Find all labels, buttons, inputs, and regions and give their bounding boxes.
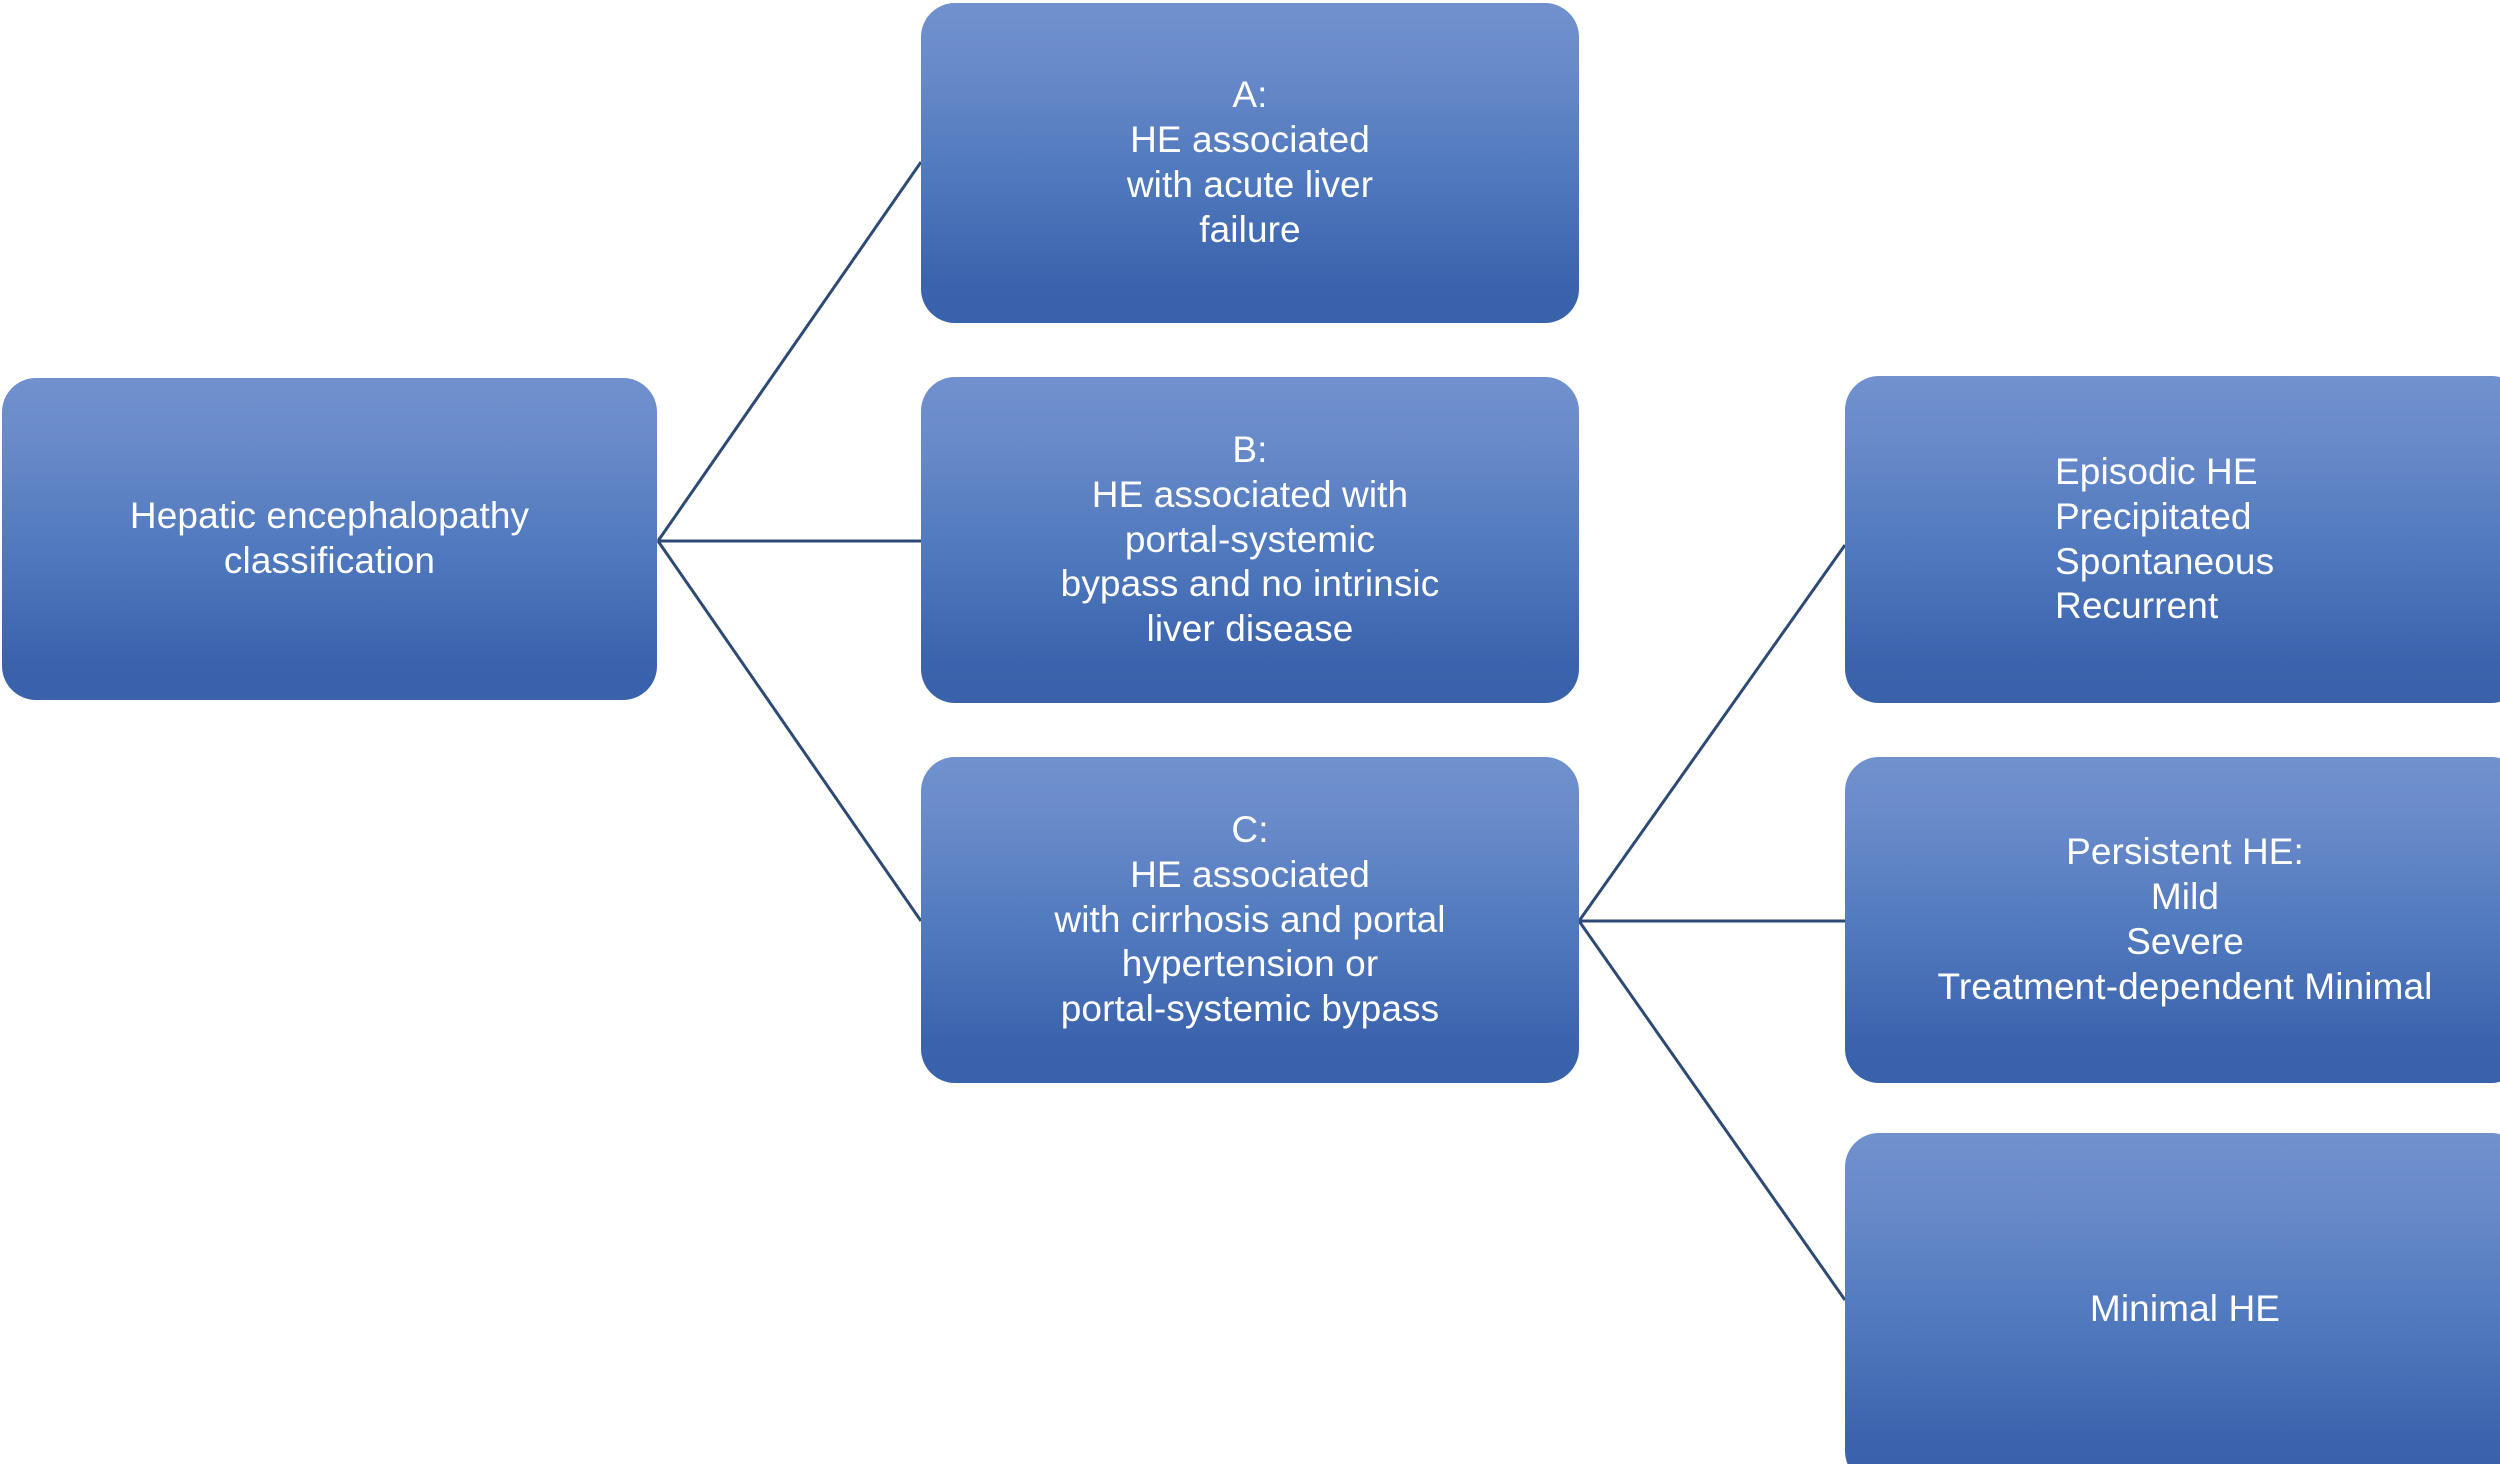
node-type-c[interactable]: C: HE associated with cirrhosis and port… [921,757,1579,1083]
node-persistent-he-label: Persistent HE: Mild Severe Treatment-dep… [1845,830,2500,1009]
connector-type-c-to-episodic [1579,545,1845,921]
diagram-canvas: Hepatic encephalopathy classification A:… [0,0,2500,1464]
node-root[interactable]: Hepatic encephalopathy classification [2,378,657,700]
node-type-c-label: C: HE associated with cirrhosis and port… [921,808,1579,1032]
node-episodic-he[interactable]: Episodic HE Precipitated Spontaneous Rec… [1845,376,2500,703]
node-type-b[interactable]: B: HE associated with portal-systemic by… [921,377,1579,703]
node-minimal-he-label: Minimal HE [1845,1287,2500,1332]
node-root-label: Hepatic encephalopathy classification [2,494,657,584]
node-type-a-label: A: HE associated with acute liver failur… [921,73,1579,252]
node-type-a[interactable]: A: HE associated with acute liver failur… [921,3,1579,323]
connector-type-c-to-minimal [1579,921,1845,1300]
node-episodic-he-label: Episodic HE Precipitated Spontaneous Rec… [1845,450,2500,629]
node-persistent-he[interactable]: Persistent HE: Mild Severe Treatment-dep… [1845,757,2500,1083]
connector-root-to-type-a [658,162,921,541]
node-minimal-he[interactable]: Minimal HE [1845,1133,2500,1464]
node-type-b-label: B: HE associated with portal-systemic by… [921,428,1579,652]
connector-root-to-type-c [658,541,921,921]
